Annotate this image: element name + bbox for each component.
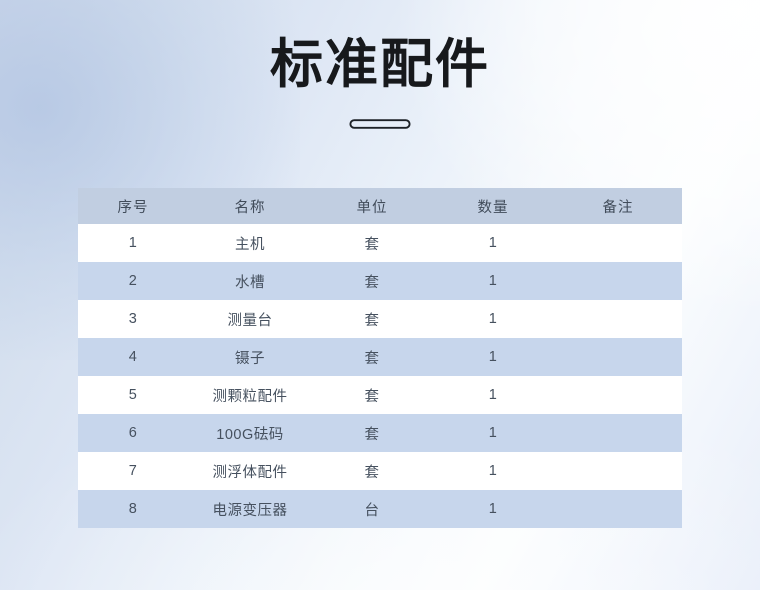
pill-divider-icon xyxy=(349,117,411,131)
cell-name: 100G砝码 xyxy=(188,414,312,452)
cell-name: 主机 xyxy=(188,224,312,262)
cell-name: 测量台 xyxy=(188,300,312,338)
table-row: 6 100G砝码 套 1 xyxy=(78,414,682,452)
cell-qty: 1 xyxy=(432,452,554,490)
table-row: 7 测浮体配件 套 1 xyxy=(78,452,682,490)
cell-index: 3 xyxy=(78,300,188,338)
table-body: 1 主机 套 1 2 水槽 套 1 3 测量台 套 1 4 xyxy=(78,224,682,528)
cell-remark xyxy=(554,224,682,262)
cell-name: 水槽 xyxy=(188,262,312,300)
standard-accessories-table: 序号 名称 单位 数量 备注 1 主机 套 1 2 水槽 套 1 xyxy=(78,188,682,528)
cell-unit: 套 xyxy=(312,452,432,490)
table-header-row: 序号 名称 单位 数量 备注 xyxy=(78,188,682,224)
column-header-name: 名称 xyxy=(188,188,312,224)
cell-remark xyxy=(554,414,682,452)
cell-unit: 套 xyxy=(312,262,432,300)
cell-unit: 套 xyxy=(312,338,432,376)
cell-index: 7 xyxy=(78,452,188,490)
cell-qty: 1 xyxy=(432,224,554,262)
cell-unit: 套 xyxy=(312,300,432,338)
cell-qty: 1 xyxy=(432,376,554,414)
column-header-qty: 数量 xyxy=(432,188,554,224)
cell-remark xyxy=(554,452,682,490)
cell-index: 6 xyxy=(78,414,188,452)
title-divider-container xyxy=(0,117,760,131)
column-header-index: 序号 xyxy=(78,188,188,224)
cell-name: 测浮体配件 xyxy=(188,452,312,490)
cell-qty: 1 xyxy=(432,262,554,300)
page-title: 标准配件 xyxy=(0,38,760,91)
cell-unit: 台 xyxy=(312,490,432,528)
table-row: 2 水槽 套 1 xyxy=(78,262,682,300)
table-row: 5 测颗粒配件 套 1 xyxy=(78,376,682,414)
cell-remark xyxy=(554,300,682,338)
cell-qty: 1 xyxy=(432,300,554,338)
page-header: 标准配件 xyxy=(0,38,760,131)
cell-qty: 1 xyxy=(432,338,554,376)
cell-qty: 1 xyxy=(432,414,554,452)
cell-name: 测颗粒配件 xyxy=(188,376,312,414)
cell-unit: 套 xyxy=(312,414,432,452)
cell-index: 8 xyxy=(78,490,188,528)
cell-remark xyxy=(554,376,682,414)
cell-name: 电源变压器 xyxy=(188,490,312,528)
cell-remark xyxy=(554,490,682,528)
table-row: 4 镊子 套 1 xyxy=(78,338,682,376)
cell-index: 4 xyxy=(78,338,188,376)
column-header-unit: 单位 xyxy=(312,188,432,224)
cell-index: 5 xyxy=(78,376,188,414)
cell-remark xyxy=(554,262,682,300)
cell-unit: 套 xyxy=(312,224,432,262)
table-row: 3 测量台 套 1 xyxy=(78,300,682,338)
table-row: 8 电源变压器 台 1 xyxy=(78,490,682,528)
column-header-remark: 备注 xyxy=(554,188,682,224)
cell-qty: 1 xyxy=(432,490,554,528)
cell-name: 镊子 xyxy=(188,338,312,376)
cell-index: 2 xyxy=(78,262,188,300)
table-header: 序号 名称 单位 数量 备注 xyxy=(78,188,682,224)
cell-index: 1 xyxy=(78,224,188,262)
accessories-page: 标准配件 序号 名称 单位 数量 备注 1 xyxy=(0,0,760,590)
cell-remark xyxy=(554,338,682,376)
table-row: 1 主机 套 1 xyxy=(78,224,682,262)
cell-unit: 套 xyxy=(312,376,432,414)
